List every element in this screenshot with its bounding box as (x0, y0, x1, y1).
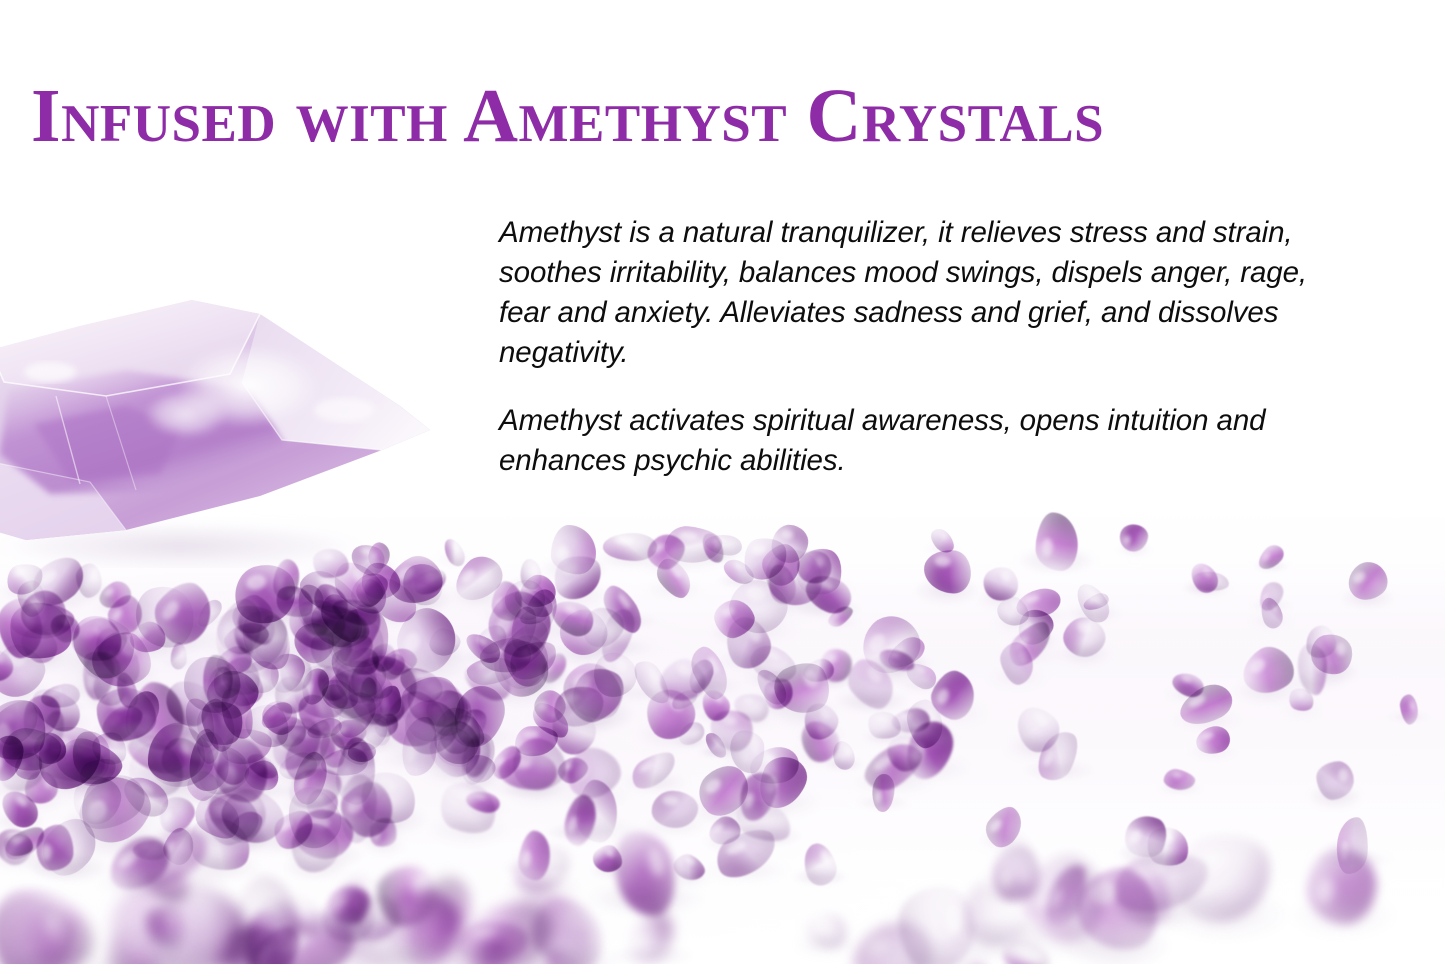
amethyst-chip (1118, 522, 1150, 553)
chip-shadow (201, 717, 272, 735)
amethyst-chip (461, 751, 498, 787)
chip-shadow (378, 727, 455, 761)
chip-shadow (198, 775, 287, 807)
chip-shadow (301, 731, 348, 742)
chip-shadow (26, 764, 113, 803)
amethyst-chip (461, 709, 487, 737)
chip-shadow (356, 586, 405, 609)
chip-shadow (265, 746, 347, 765)
chip-shadow (0, 949, 89, 964)
chip-shadow (305, 606, 358, 623)
chip-shadow (447, 759, 506, 775)
amethyst-chip (345, 566, 394, 614)
chip-shadow (380, 587, 452, 616)
amethyst-chip (596, 605, 639, 665)
amethyst-chip (1301, 842, 1383, 930)
amethyst-chip (331, 772, 404, 845)
chip-shadow (368, 933, 509, 964)
amethyst-chip (182, 765, 223, 805)
chip-shadow (1022, 900, 1111, 921)
chip-shadow (857, 796, 909, 809)
chip-shadow (644, 813, 707, 836)
chip-shadow (186, 822, 251, 845)
amethyst-chip (91, 871, 218, 964)
amethyst-chip (851, 606, 930, 685)
amethyst-chip (1171, 826, 1280, 929)
chip-shadow (289, 623, 336, 635)
chip-shadow (320, 593, 402, 617)
chip-shadow (222, 830, 271, 846)
chip-shadow (269, 605, 321, 623)
chip-shadow (301, 655, 347, 671)
chip-shadow (66, 583, 112, 599)
amethyst-chip (276, 748, 320, 785)
amethyst-chip (765, 562, 800, 606)
chip-shadow (546, 582, 611, 608)
amethyst-chip (325, 640, 386, 706)
chip-shadow (654, 686, 712, 712)
amethyst-chip (552, 601, 615, 664)
chip-shadow (1064, 606, 1121, 622)
chip-shadow (704, 858, 789, 883)
amethyst-chip (433, 707, 482, 766)
chip-shadow (555, 816, 640, 841)
amethyst-chip (277, 778, 350, 856)
amethyst-chip (9, 601, 74, 641)
chip-shadow (352, 596, 387, 613)
chip-shadow (1251, 599, 1292, 612)
chip-shadow (77, 660, 160, 681)
amethyst-chip (466, 932, 517, 964)
amethyst-chip (858, 734, 929, 798)
chip-shadow (308, 655, 361, 674)
chip-shadow (430, 814, 508, 844)
amethyst-chip (1110, 846, 1213, 917)
chip-shadow (489, 777, 568, 800)
chip-shadow (350, 738, 396, 753)
amethyst-chip (4, 834, 33, 856)
chip-shadow (0, 846, 55, 861)
amethyst-chip (433, 774, 505, 841)
amethyst-chip (1286, 685, 1317, 714)
chip-shadow (87, 753, 133, 773)
chip-shadow (247, 956, 373, 964)
chip-shadow (198, 819, 277, 851)
amethyst-chip (654, 651, 713, 709)
amethyst-chip (608, 825, 682, 921)
chip-shadow (728, 711, 775, 728)
chip-shadow (89, 649, 136, 662)
amethyst-chip (353, 575, 387, 610)
chip-shadow (736, 564, 795, 589)
chip-shadow (216, 641, 277, 658)
amethyst-chip (490, 580, 525, 622)
amethyst-chip (440, 536, 468, 569)
amethyst-chip (330, 595, 380, 628)
chip-shadow (429, 949, 576, 964)
amethyst-chip (465, 654, 517, 687)
chip-shadow (697, 748, 735, 757)
amethyst-chip (696, 684, 735, 724)
chip-shadow (117, 759, 197, 779)
chip-shadow (885, 723, 936, 738)
amethyst-chip (1305, 624, 1338, 659)
chip-shadow (1278, 673, 1347, 691)
chip-shadow (892, 728, 958, 749)
amethyst-chip (663, 523, 724, 565)
chip-shadow (204, 954, 274, 964)
amethyst-chip (82, 652, 115, 701)
chip-shadow (165, 726, 234, 742)
amethyst-chip (231, 624, 257, 657)
amethyst-chip (25, 680, 88, 737)
amethyst-chip (98, 919, 171, 964)
amethyst-chip (216, 685, 257, 743)
amethyst-chip (102, 590, 150, 640)
amethyst-chip (1057, 611, 1111, 664)
amethyst-chip (958, 871, 1037, 951)
chip-shadow (797, 934, 854, 955)
chip-shadow (461, 773, 498, 791)
amethyst-chip (381, 645, 421, 680)
amethyst-chip (0, 784, 44, 833)
amethyst-chip (182, 695, 218, 750)
amethyst-chip (435, 718, 474, 759)
chip-shadow (87, 721, 168, 754)
chip-shadow (281, 610, 341, 626)
amethyst-chip (1193, 723, 1233, 758)
chip-shadow (669, 871, 712, 886)
chip-shadow (523, 723, 580, 738)
amethyst-chip (135, 712, 225, 802)
amethyst-chip (282, 814, 348, 880)
chip-shadow (152, 820, 202, 840)
amethyst-chip (1013, 585, 1063, 623)
amethyst-chip (307, 595, 364, 650)
amethyst-chip (704, 534, 742, 556)
chip-shadow (924, 543, 961, 554)
chip-shadow (483, 950, 608, 964)
chip-shadow (1183, 581, 1225, 596)
chip-shadow (708, 622, 762, 645)
amethyst-chip (597, 581, 649, 639)
amethyst-chip (536, 649, 571, 687)
chip-shadow (85, 667, 160, 701)
chip-shadow (183, 749, 231, 762)
amethyst-chip (395, 662, 448, 708)
paragraph-2: Amethyst activates spiritual awareness, … (499, 401, 1361, 481)
chip-shadow (174, 692, 250, 727)
chip-shadow (45, 631, 85, 647)
amethyst-chip (15, 621, 64, 668)
amethyst-chip (231, 599, 282, 650)
chip-shadow (646, 581, 703, 598)
chip-shadow (823, 618, 859, 627)
amethyst-chip (332, 736, 380, 808)
chip-shadow (508, 744, 566, 763)
amethyst-chip (1070, 578, 1115, 627)
amethyst-chip (741, 535, 790, 582)
amethyst-chip (558, 738, 629, 810)
amethyst-chip (399, 668, 475, 737)
amethyst-chip (399, 714, 441, 778)
amethyst-chip (318, 732, 348, 770)
chip-shadow (1139, 851, 1196, 875)
chip-shadow (0, 637, 83, 672)
amethyst-chip (328, 628, 379, 685)
amethyst-chip (448, 549, 510, 611)
amethyst-chip (399, 560, 446, 609)
chip-shadow (8, 601, 56, 618)
amethyst-chip (286, 616, 340, 670)
chip-shadow (835, 689, 906, 713)
amethyst-chip (71, 730, 112, 781)
chip-shadow (637, 720, 704, 749)
amethyst-chip (0, 733, 26, 783)
paragraph-1: Amethyst is a natural tranquilizer, it r… (499, 213, 1361, 373)
chip-shadow (190, 728, 250, 756)
amethyst-chip (308, 579, 355, 626)
chip-shadow (755, 585, 833, 618)
amethyst-chip (650, 789, 699, 830)
amethyst-chip (115, 930, 184, 964)
amethyst-chip (1235, 639, 1301, 704)
chip-shadow (581, 639, 655, 656)
chip-shadow (915, 577, 979, 604)
chip-shadow (317, 699, 393, 730)
amethyst-chip (642, 527, 691, 576)
amethyst-chip (505, 580, 545, 620)
chip-shadow (272, 823, 355, 854)
chip-shadow (555, 698, 630, 734)
amethyst-chip (830, 739, 858, 773)
chip-shadow (182, 728, 254, 747)
chip-shadow (178, 851, 262, 883)
amethyst-chip (225, 805, 268, 849)
amethyst-chip (313, 879, 387, 953)
chip-shadow (324, 615, 386, 630)
amethyst-chip (586, 645, 644, 703)
amethyst-chip (1315, 760, 1356, 801)
chip-shadow (213, 751, 281, 773)
chip-shadow (34, 700, 86, 714)
chip-shadow (342, 754, 380, 766)
amethyst-chip (542, 698, 604, 761)
amethyst-chip (266, 650, 308, 697)
chip-shadow (317, 677, 394, 698)
amethyst-chip (491, 885, 600, 964)
amethyst-chip (140, 899, 193, 955)
amethyst-chip (1007, 699, 1067, 759)
chip-shadow (988, 667, 1045, 686)
amethyst-chip (17, 691, 64, 745)
chip-shadow (143, 620, 225, 653)
amethyst-chip (1010, 841, 1123, 954)
chip-shadow (324, 737, 372, 754)
chip-shadow (0, 762, 38, 781)
amethyst-chip (519, 586, 562, 645)
amethyst-chip (317, 674, 363, 716)
chip-shadow (72, 775, 123, 790)
chip-shadow (1314, 850, 1392, 869)
amethyst-chip (340, 648, 423, 733)
amethyst-chip (998, 935, 1053, 964)
amethyst-chip (294, 562, 363, 623)
chip-shadow (28, 732, 79, 744)
amethyst-chip (410, 566, 449, 599)
amethyst-chip (0, 823, 38, 871)
chip-shadow (695, 708, 737, 724)
amethyst-chip (257, 696, 303, 740)
chip-shadow (1388, 712, 1429, 723)
amethyst-chip (839, 652, 902, 717)
chip-shadow (64, 806, 129, 835)
amethyst-chip (689, 756, 758, 824)
amethyst-chip (365, 714, 391, 746)
chip-shadow (513, 596, 561, 616)
chip-shadow (437, 723, 521, 753)
chip-shadow (540, 555, 607, 583)
amethyst-chip (368, 816, 399, 848)
amethyst-chip (444, 709, 490, 755)
amethyst-chip (603, 533, 657, 561)
amethyst-chip (904, 696, 947, 750)
amethyst-chip (285, 764, 344, 813)
amethyst-chip (792, 714, 845, 768)
amethyst-chip (759, 673, 800, 713)
chip-shadow (104, 866, 227, 895)
chip-shadow (341, 683, 395, 703)
amethyst-chip (87, 726, 132, 771)
amethyst-chip (992, 844, 1040, 901)
chip-shadow (553, 773, 594, 788)
chip-shadow (378, 665, 423, 681)
chip-shadow (376, 669, 413, 682)
chip-shadow (585, 679, 644, 705)
chip-shadow (0, 950, 108, 964)
chip-shadow (879, 656, 934, 671)
amethyst-chip (507, 604, 539, 653)
white-reflective-surface (0, 560, 1445, 964)
chip-shadow (717, 575, 760, 587)
chip-shadow (203, 632, 279, 658)
amethyst-chip (71, 766, 159, 854)
amethyst-chip (293, 602, 332, 639)
chip-shadow (107, 959, 192, 964)
chip-shadow (978, 588, 1024, 609)
amethyst-chip (1398, 694, 1420, 726)
chip-shadow (1305, 659, 1359, 684)
chip-shadow (0, 678, 54, 710)
chip-shadow (501, 859, 568, 878)
chip-shadow (1099, 902, 1185, 935)
chip-shadow (14, 649, 66, 668)
chip-shadow (564, 699, 635, 730)
chip-shadow (498, 605, 552, 630)
chip-shadow (349, 694, 388, 704)
chip-shadow (471, 643, 514, 659)
chip-shadow (666, 701, 704, 711)
chip-shadow (878, 938, 994, 964)
chip-shadow (415, 720, 482, 743)
chip-shadow (344, 665, 385, 682)
chip-shadow (1162, 888, 1289, 941)
chip-shadow (316, 635, 378, 657)
amethyst-chip (41, 709, 66, 749)
chip-shadow (1007, 734, 1068, 759)
amethyst-chip (257, 697, 297, 734)
amethyst-chip (313, 588, 372, 650)
amethyst-chip (557, 655, 628, 728)
amethyst-chip (717, 610, 777, 674)
amethyst-chip (0, 694, 51, 765)
chip-shadow (477, 631, 564, 669)
amethyst-chip (0, 883, 90, 964)
amethyst-chip (731, 794, 797, 848)
chip-shadow (256, 722, 304, 742)
amethyst-chip (36, 824, 74, 871)
chip-shadow (0, 847, 38, 861)
amethyst-chip (354, 555, 406, 607)
amethyst-chip (277, 712, 343, 786)
chip-shadow (239, 780, 285, 799)
chip-shadow (713, 648, 783, 675)
chip-shadow (64, 809, 158, 838)
amethyst-chip (576, 600, 630, 655)
amethyst-chip (285, 653, 360, 728)
amethyst-chip (331, 655, 383, 706)
amethyst-chip (15, 578, 48, 618)
chip-shadow (1097, 888, 1227, 923)
body-copy: Amethyst is a natural tranquilizer, it r… (499, 213, 1361, 481)
chip-shadow (319, 645, 402, 680)
amethyst-chip (800, 569, 856, 619)
chip-shadow (229, 629, 286, 648)
chip-shadow (155, 849, 204, 867)
amethyst-chip (0, 743, 51, 801)
chip-shadow (1234, 677, 1301, 705)
amethyst-chip (271, 557, 304, 602)
chip-shadow (788, 577, 852, 605)
chip-shadow (287, 697, 360, 731)
amethyst-chip (890, 705, 931, 735)
chip-shadow (395, 708, 478, 737)
chip-shadow (433, 742, 477, 759)
chip-shadow (1008, 607, 1069, 624)
amethyst-chip (307, 788, 338, 819)
chip-shadow (265, 919, 335, 940)
chip-shadow (594, 550, 668, 567)
chip-shadow (108, 718, 175, 736)
amethyst-chip (211, 912, 300, 964)
amethyst-chip (343, 877, 384, 939)
amethyst-chip (377, 649, 410, 684)
amethyst-chip (800, 656, 837, 687)
chip-shadow (394, 589, 451, 613)
chip-shadow (296, 626, 354, 642)
chip-shadow (0, 727, 49, 750)
chip-shadow (236, 731, 297, 757)
amethyst-chip (0, 644, 19, 687)
chip-shadow (489, 667, 558, 690)
chip-shadow (620, 686, 685, 702)
amethyst-chip (1192, 571, 1229, 592)
amethyst-chip (554, 752, 592, 787)
amethyst-chip (125, 617, 168, 658)
amethyst-chip (319, 680, 352, 714)
amethyst-chip (191, 693, 251, 752)
amethyst-chip (1119, 809, 1173, 864)
